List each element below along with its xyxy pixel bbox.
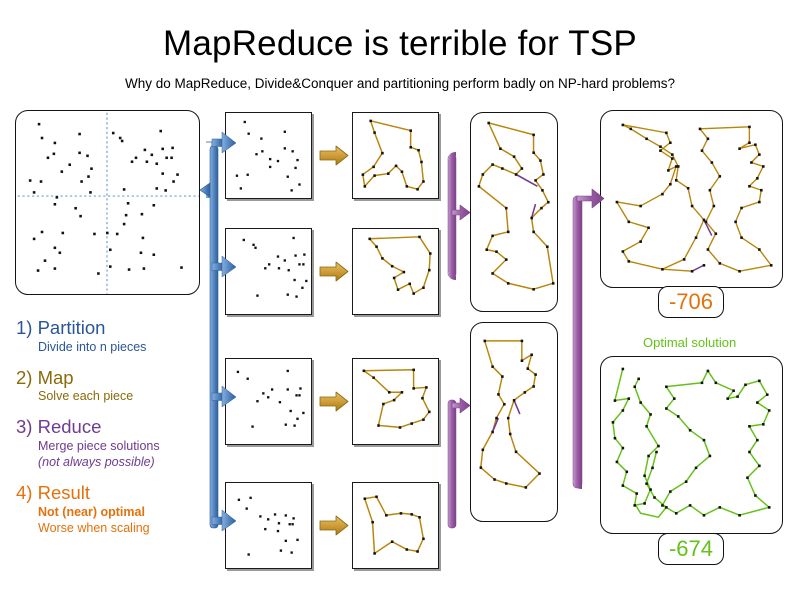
merge-edge-1 [516, 174, 538, 186]
step-result[interactable]: 4) Result Not (near) optimal Worse when … [16, 483, 211, 536]
step-reduce-sub-0: Merge piece solutions [16, 438, 211, 454]
panel-tour-1[interactable] [352, 112, 439, 199]
step-partition[interactable]: 1) Partition Divide into n pieces [16, 318, 211, 355]
map-arrow-1[interactable] [320, 146, 348, 165]
map-arrow-3[interactable] [320, 392, 348, 411]
step-result-sub-1: Worse when scaling [16, 520, 211, 536]
reduce-arrow-top[interactable] [448, 147, 470, 280]
step-reduce[interactable]: 3) Reduce Merge piece solutions (not alw… [16, 417, 211, 470]
step-result-title: 4) Result [16, 483, 211, 504]
map-arrow-4[interactable] [320, 516, 348, 535]
piece-3-scatter [226, 359, 311, 444]
optimal-tour-path [601, 357, 782, 533]
input-scatter [16, 111, 199, 294]
step-partition-sub-0: Divide into n pieces [16, 339, 211, 355]
result-tour-path [601, 111, 782, 287]
result-merge-edge-2 [692, 265, 704, 271]
panel-tour-4[interactable] [352, 482, 439, 569]
panel-tour-3[interactable] [352, 358, 439, 445]
optimal-solution-label: Optimal solution [643, 335, 736, 350]
merged-top-path [471, 113, 557, 311]
panel-merged-bottom[interactable] [470, 322, 558, 522]
piece-4-scatter [226, 483, 311, 568]
panel-tour-2[interactable] [352, 228, 439, 315]
score-badge-result: -706 [658, 286, 724, 318]
step-map-sub-0: Solve each piece [16, 388, 211, 404]
piece-1-scatter [226, 113, 311, 198]
piece-2-scatter [226, 229, 311, 314]
step-partition-title: 1) Partition [16, 318, 211, 339]
input-point-group [29, 123, 183, 275]
slide-canvas: MapReduce is terrible for TSP Why do Map… [0, 0, 800, 600]
tour-2-path [353, 229, 438, 314]
tour-3-path [353, 359, 438, 444]
panel-piece-2[interactable] [225, 228, 312, 315]
panel-piece-4[interactable] [225, 482, 312, 569]
steps-legend: 1) Partition Divide into n pieces 2) Map… [16, 318, 211, 549]
step-map-title: 2) Map [16, 368, 211, 389]
panel-optimal-tour[interactable] [600, 356, 783, 534]
merge-edge-4 [514, 400, 520, 414]
map-arrow-2[interactable] [320, 262, 348, 281]
reduce-arrow-bottom[interactable] [448, 398, 470, 528]
tour-1-path [353, 113, 438, 198]
panel-merged-top[interactable] [470, 112, 558, 312]
panel-piece-3[interactable] [225, 358, 312, 445]
page-subtitle: Why do MapReduce, Divide&Conquer and par… [0, 76, 800, 91]
score-badge-optimal: -674 [658, 533, 724, 565]
step-reduce-title: 3) Reduce [16, 417, 211, 438]
panel-piece-1[interactable] [225, 112, 312, 199]
panel-result-tour[interactable] [600, 110, 783, 288]
step-result-sub-0: Not (near) optimal [16, 504, 211, 520]
step-map[interactable]: 2) Map Solve each piece [16, 368, 211, 405]
tour-4-path [353, 483, 438, 568]
step-reduce-sub-1: (not always possible) [16, 454, 211, 470]
panel-input-points[interactable] [15, 110, 200, 295]
merged-bottom-path [471, 323, 557, 521]
page-title: MapReduce is terrible for TSP [0, 24, 800, 64]
